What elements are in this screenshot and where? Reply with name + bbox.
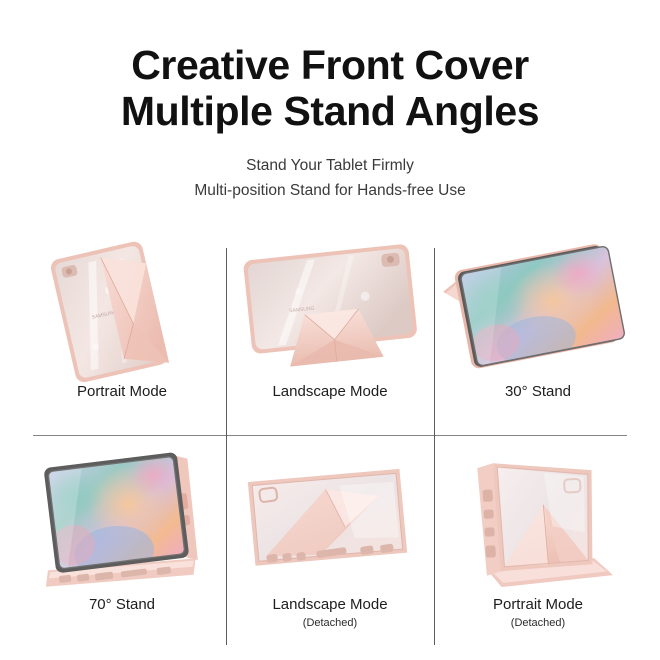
page-title-line-1: Creative Front Cover (0, 42, 660, 88)
caption-text: Portrait Mode (434, 595, 642, 615)
caption-text: Landscape Mode (226, 382, 434, 402)
product-infographic: Creative Front Cover Multiple Stand Angl… (0, 0, 660, 660)
tablet-image-portrait-mode: SAMSUNG (18, 230, 226, 388)
grid-cell-landscape-detached: Landscape Mode (Detached) (226, 443, 434, 656)
case-image-landscape-detached (226, 443, 434, 601)
caption-text: Landscape Mode (226, 595, 434, 615)
grid-cell-portrait-detached: Portrait Mode (Detached) (434, 443, 642, 656)
cell-caption-stand-30: 30° Stand (434, 382, 642, 402)
cell-caption-landscape-detached: Landscape Mode (Detached) (226, 595, 434, 631)
caption-text: 30° Stand (434, 382, 642, 402)
caption-sub-text: (Detached) (434, 616, 642, 631)
caption-text: Portrait Mode (18, 382, 226, 402)
grid-cell-stand-30: 30° Stand (434, 230, 642, 443)
subtitle-line-1: Stand Your Tablet Firmly (0, 153, 660, 178)
case-image-portrait-detached (434, 443, 642, 601)
subtitle-line-2: Multi-position Stand for Hands-free Use (0, 178, 660, 203)
grid-cell-portrait-mode: SAMSUNG Portrait Mode (18, 230, 226, 443)
header: Creative Front Cover Multiple Stand Angl… (0, 0, 660, 203)
grid-cell-landscape-mode: SAMSUNG Landscape Mode (226, 230, 434, 443)
tablet-image-stand-30 (434, 230, 642, 388)
feature-grid: SAMSUNG Portrait Mode (0, 222, 660, 660)
tablet-image-stand-70 (18, 443, 226, 601)
tablet-image-landscape-mode: SAMSUNG (226, 230, 434, 388)
cell-caption-portrait-detached: Portrait Mode (Detached) (434, 595, 642, 631)
cell-caption-stand-70: 70° Stand (18, 595, 226, 615)
page-title-line-2: Multiple Stand Angles (0, 88, 660, 134)
caption-text: 70° Stand (18, 595, 226, 615)
subtitle-block: Stand Your Tablet Firmly Multi-position … (0, 153, 660, 203)
grid-cell-stand-70: 70° Stand (18, 443, 226, 656)
caption-sub-text: (Detached) (226, 616, 434, 631)
cell-caption-landscape-mode: Landscape Mode (226, 382, 434, 402)
cell-caption-portrait-mode: Portrait Mode (18, 382, 226, 402)
